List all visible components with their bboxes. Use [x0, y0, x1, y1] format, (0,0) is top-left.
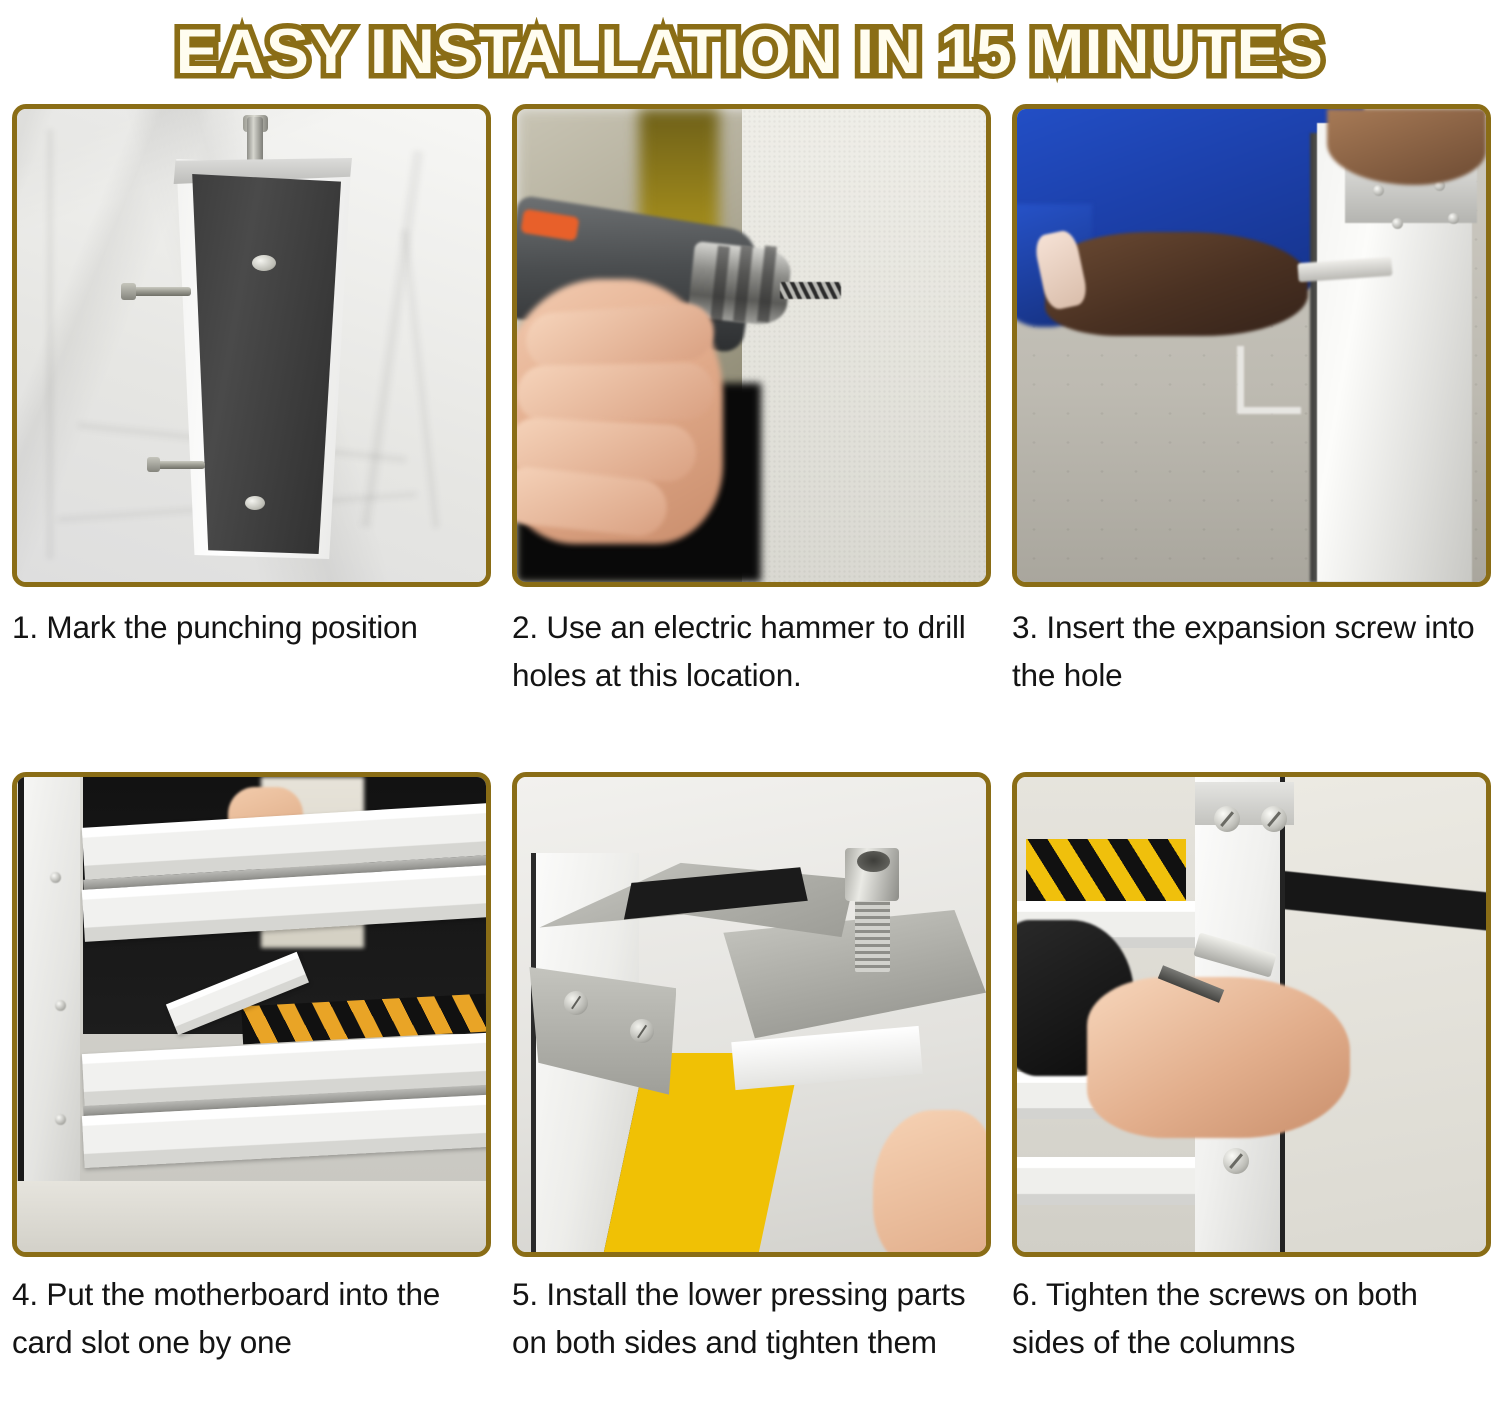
step-card-5: 5. Install the lower pressing parts on b… [500, 772, 1000, 1403]
step-image-frame-3 [1012, 104, 1491, 587]
steps-grid: 1. Mark the punching position [0, 104, 1500, 1403]
step-photo-3 [1017, 109, 1486, 582]
step-caption-4: 4. Put the motherboard into the card slo… [12, 1271, 482, 1367]
step-image-frame-4 [12, 772, 491, 1257]
step-caption-2: 2. Use an electric hammer to drill holes… [512, 604, 982, 700]
step-photo-5 [517, 777, 986, 1252]
step-card-3: 3. Insert the expansion screw into the h… [1000, 104, 1500, 772]
step-caption-1: 1. Mark the punching position [12, 604, 482, 652]
step-image-frame-1 [12, 104, 491, 587]
step-caption-6: 6. Tighten the screws on both sides of t… [1012, 1271, 1482, 1367]
step-image-frame-5 [512, 772, 991, 1257]
step-caption-3: 3. Insert the expansion screw into the h… [1012, 604, 1482, 700]
step-photo-1 [17, 109, 486, 582]
installation-guide-page: EASY INSTALLATION IN 15 MINUTES [0, 0, 1500, 1403]
step-image-frame-2 [512, 104, 991, 587]
header-banner: EASY INSTALLATION IN 15 MINUTES [0, 0, 1500, 104]
step-photo-2 [517, 109, 986, 582]
step-card-2: 2. Use an electric hammer to drill holes… [500, 104, 1000, 772]
step-card-1: 1. Mark the punching position [0, 104, 500, 772]
step-photo-6 [1017, 777, 1486, 1252]
step-caption-5: 5. Install the lower pressing parts on b… [512, 1271, 982, 1367]
step-card-6: 6. Tighten the screws on both sides of t… [1000, 772, 1500, 1403]
page-title: EASY INSTALLATION IN 15 MINUTES [176, 21, 1324, 84]
step-image-frame-6 [1012, 772, 1491, 1257]
step-card-4: 4. Put the motherboard into the card slo… [0, 772, 500, 1403]
step-photo-4 [17, 777, 486, 1252]
